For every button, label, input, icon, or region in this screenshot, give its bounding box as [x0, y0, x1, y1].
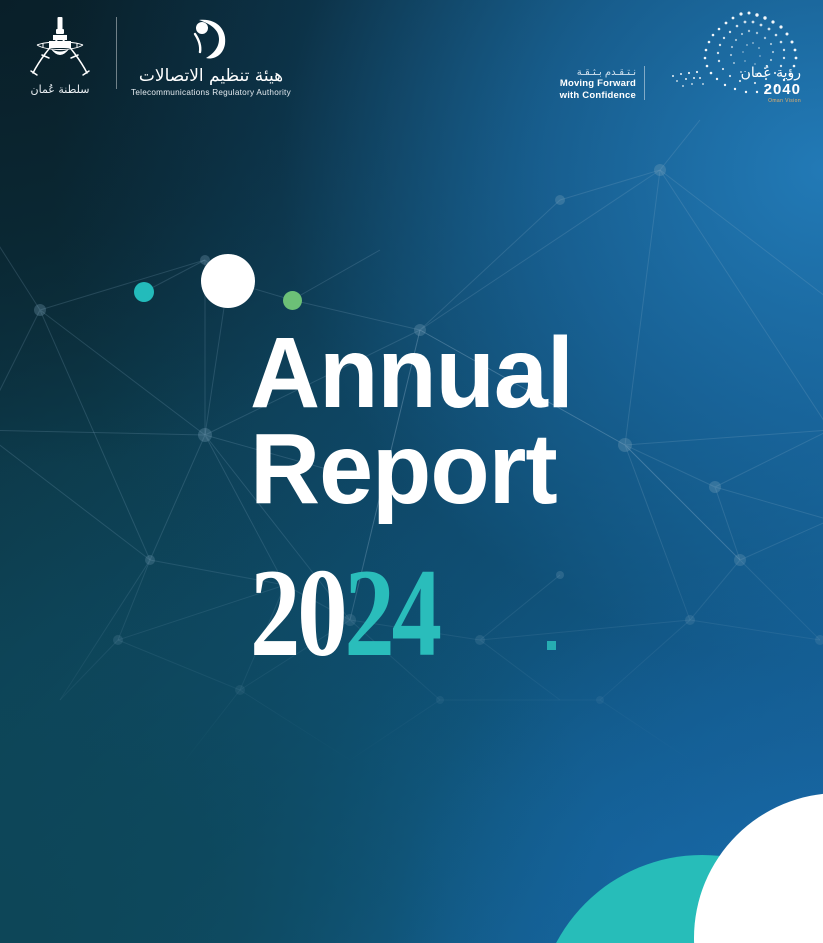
government-logo-group: سلطنة عُمان هيئة تنظيم الاتصالات Telecom…	[18, 10, 291, 97]
vision-year: 2040	[741, 82, 801, 97]
moving-forward-tagline: نـتـقـدم بـثـقـة Moving Forward with Con…	[560, 67, 636, 120]
annual-report-cover-page: سلطنة عُمان هيئة تنظيم الاتصالات Telecom…	[0, 0, 823, 943]
decorative-dot-cyan	[134, 282, 154, 302]
khanjar-icon	[23, 11, 97, 81]
tra-name-en: Telecommunications Regulatory Authority	[131, 88, 291, 97]
cover-header: سلطنة عُمان هيئة تنظيم الاتصالات Telecom…	[0, 0, 823, 130]
decorative-dot-green	[283, 291, 302, 310]
vision-mark: رؤية عُمان 2040 Oman Vision	[653, 8, 803, 120]
vision-divider	[644, 66, 645, 100]
tagline-en-line2: with Confidence	[560, 91, 636, 102]
title-line-report: Report	[250, 421, 754, 517]
oman-vision-2040-logo-group: نـتـقـدم بـثـقـة Moving Forward with Con…	[560, 8, 803, 120]
emblem-caption-ar: سلطنة عُمان	[18, 83, 102, 96]
title-line-annual: Annual	[250, 325, 754, 421]
year-prefix: 20	[250, 544, 344, 683]
header-divider	[116, 17, 117, 89]
cover-title-block: Annual Report 2024	[250, 325, 770, 667]
tra-logo: هيئة تنظيم الاتصالات Telecommunications …	[131, 10, 291, 97]
tagline-ar: نـتـقـدم بـثـقـة	[560, 67, 636, 78]
vision-name-ar: رؤية عُمان	[741, 65, 801, 81]
tagline-en-line1: Moving Forward	[560, 79, 636, 90]
decorative-dot-white	[201, 254, 255, 308]
tra-wave-mark-icon	[189, 14, 233, 62]
year-suffix: 24	[344, 544, 438, 683]
cover-year: 2024	[250, 561, 666, 667]
vision-text-group: رؤية عُمان 2040 Oman Vision	[741, 65, 801, 104]
vision-name-en: Oman Vision	[741, 98, 801, 104]
oman-national-emblem: سلطنة عُمان	[18, 11, 102, 96]
tra-name-ar: هيئة تنظيم الاتصالات	[131, 67, 291, 86]
